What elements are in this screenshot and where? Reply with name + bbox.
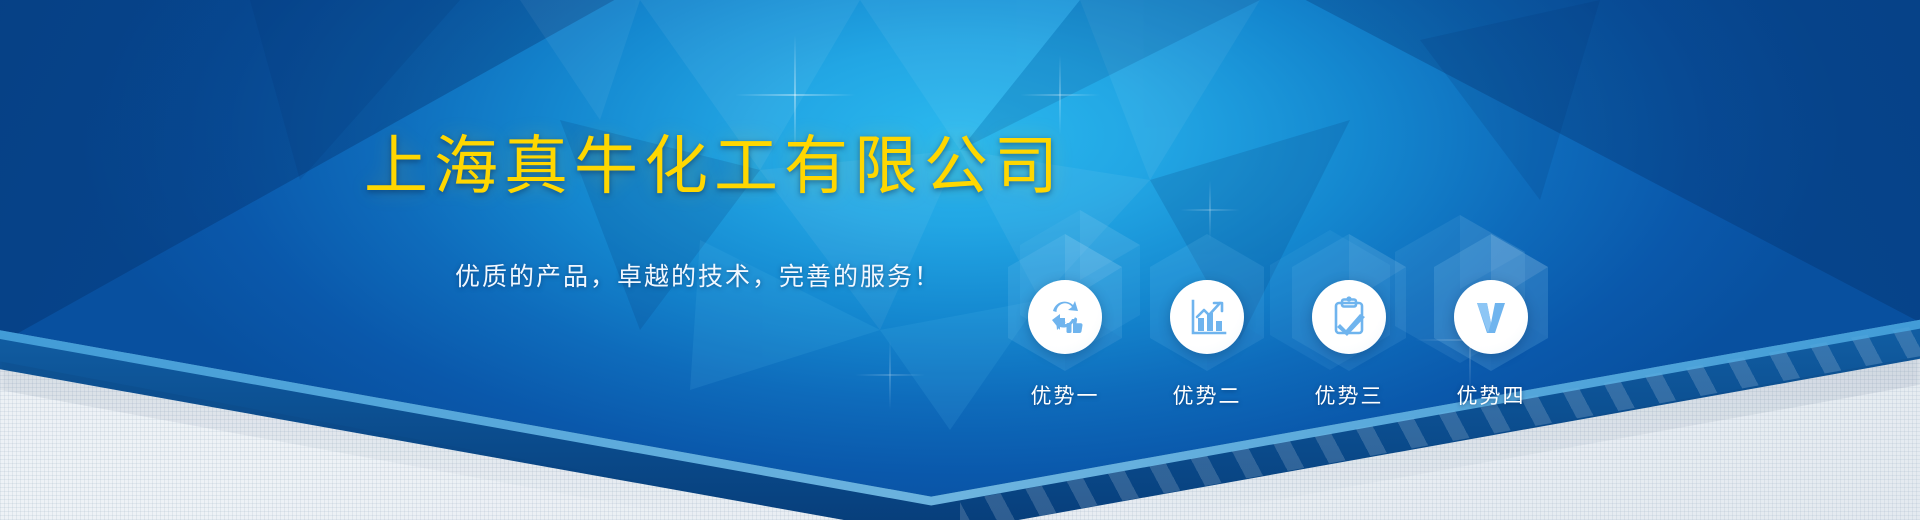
advantage-label-1: 优势一 [1031,380,1100,410]
advantage-icon-circle-4[interactable] [1454,280,1528,354]
advantage-label-4: 优势四 [1457,380,1526,410]
advantages-list: 优势一 优势二 [1016,268,1540,410]
advantage-label-3: 优势三 [1315,380,1384,410]
advantage-item-4[interactable]: 优势四 [1442,268,1540,410]
advantage-item-2[interactable]: 优势二 [1158,268,1256,410]
advantage-icon-circle-3[interactable] [1312,280,1386,354]
company-hero-banner: 上海真牛化工有限公司 优质的产品，卓越的技术，完善的服务！ [0,0,1920,520]
letter-v-icon [1469,295,1513,339]
advantage-label-2: 优势二 [1173,380,1242,410]
refresh-thumbs-up-icon [1042,294,1088,340]
advantage-icon-circle-2[interactable] [1170,280,1244,354]
advantage-icon-circle-1[interactable] [1028,280,1102,354]
advantage-item-3[interactable]: 优势三 [1300,268,1398,410]
company-slogan: 优质的产品，卓越的技术，完善的服务！ [455,264,941,289]
clipboard-check-icon [1327,295,1371,339]
bar-chart-growth-icon [1185,295,1229,339]
company-title: 上海真牛化工有限公司 [364,135,1064,199]
advantage-item-1[interactable]: 优势一 [1016,268,1114,410]
